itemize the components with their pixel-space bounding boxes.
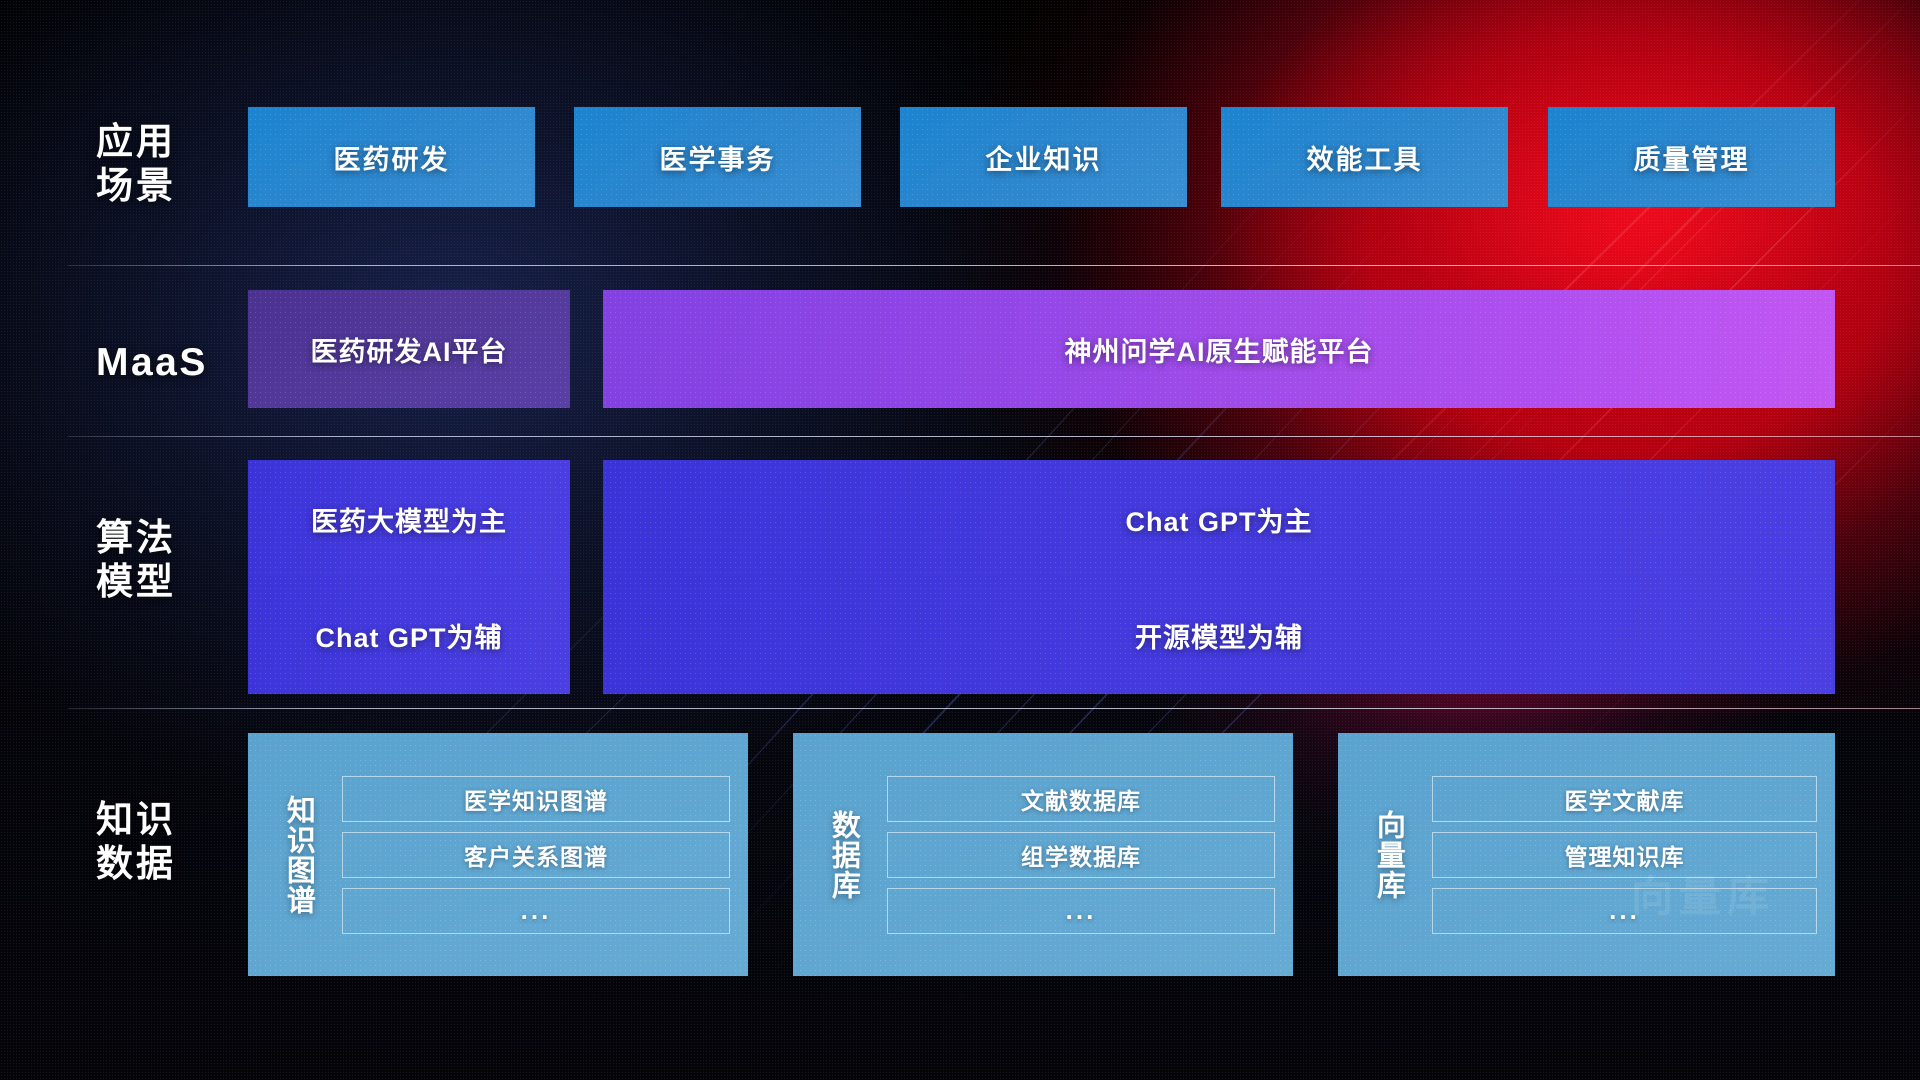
maas-box-pharma-ai-platform[interactable]: 医药研发AI平台 — [248, 290, 570, 408]
knowledge-item[interactable]: 管理知识库 — [1432, 832, 1817, 878]
app-scenario-label-2: 医学事务 — [660, 138, 776, 177]
algo-box-chatgpt-secondary[interactable]: Chat GPT为辅 — [248, 576, 570, 694]
knowledge-card-title-database: 数据库 — [813, 747, 873, 962]
row-label-application-scenarios: 应用 场景 — [96, 120, 246, 207]
knowledge-item[interactable]: 医学知识图谱 — [342, 776, 730, 822]
algo-label-opensource-secondary: 开源模型为辅 — [1135, 616, 1303, 655]
app-scenario-label-4: 效能工具 — [1307, 138, 1423, 177]
knowledge-card-database[interactable]: 数据库 文献数据库 组学数据库 ... — [793, 733, 1293, 976]
maas-label-shenzhou-platform: 神州问学AI原生赋能平台 — [1065, 330, 1374, 369]
knowledge-card-title-vector-store: 向量库 — [1358, 747, 1418, 962]
knowledge-item-list-vector-store: 医学文献库 管理知识库 ... — [1432, 776, 1817, 934]
knowledge-item-more[interactable]: ... — [887, 888, 1275, 934]
algo-box-pharma-llm-primary[interactable]: 医药大模型为主 — [248, 460, 570, 578]
maas-box-shenzhou-platform[interactable]: 神州问学AI原生赋能平台 — [603, 290, 1835, 408]
row-label-maas: MaaS — [96, 340, 246, 386]
algo-label-pharma-llm-primary: 医药大模型为主 — [311, 500, 507, 539]
algo-label-chatgpt-primary: Chat GPT为主 — [1125, 500, 1312, 539]
app-scenario-box-3[interactable]: 企业知识 — [900, 107, 1187, 207]
knowledge-item-more[interactable]: ... — [342, 888, 730, 934]
divider-3 — [68, 708, 1920, 709]
app-scenario-box-1[interactable]: 医药研发 — [248, 107, 535, 207]
knowledge-item-list-database: 文献数据库 组学数据库 ... — [887, 776, 1275, 934]
knowledge-item[interactable]: 组学数据库 — [887, 832, 1275, 878]
algo-label-chatgpt-secondary: Chat GPT为辅 — [315, 616, 502, 655]
knowledge-item-list-knowledge-graph: 医学知识图谱 客户关系图谱 ... — [342, 776, 730, 934]
app-scenario-box-5[interactable]: 质量管理 — [1548, 107, 1835, 207]
knowledge-item[interactable]: 文献数据库 — [887, 776, 1275, 822]
row-label-algorithm-model: 算法 模型 — [96, 516, 246, 603]
knowledge-item[interactable]: 医学文献库 — [1432, 776, 1817, 822]
knowledge-card-vector-store[interactable]: 向量库 向量库 医学文献库 管理知识库 ... — [1338, 733, 1835, 976]
architecture-diagram: 应用 场景 医药研发 医学事务 企业知识 效能工具 质量管理 MaaS 医药研发… — [0, 0, 1920, 1080]
algo-box-chatgpt-primary[interactable]: Chat GPT为主 — [603, 460, 1835, 578]
divider-2 — [68, 436, 1920, 437]
app-scenario-label-3: 企业知识 — [986, 138, 1102, 177]
app-scenario-label-1: 医药研发 — [334, 138, 450, 177]
maas-label-pharma-ai-platform: 医药研发AI平台 — [311, 330, 508, 369]
app-scenario-label-5: 质量管理 — [1634, 138, 1750, 177]
knowledge-card-title-knowledge-graph: 知识图谱 — [268, 747, 328, 962]
knowledge-item[interactable]: 客户关系图谱 — [342, 832, 730, 878]
divider-1 — [68, 265, 1920, 266]
knowledge-item-more[interactable]: ... — [1432, 888, 1817, 934]
algo-box-opensource-secondary[interactable]: 开源模型为辅 — [603, 576, 1835, 694]
row-label-knowledge-data: 知识 数据 — [96, 798, 246, 885]
app-scenario-box-2[interactable]: 医学事务 — [574, 107, 861, 207]
knowledge-card-knowledge-graph[interactable]: 知识图谱 医学知识图谱 客户关系图谱 ... — [248, 733, 748, 976]
app-scenario-box-4[interactable]: 效能工具 — [1221, 107, 1508, 207]
